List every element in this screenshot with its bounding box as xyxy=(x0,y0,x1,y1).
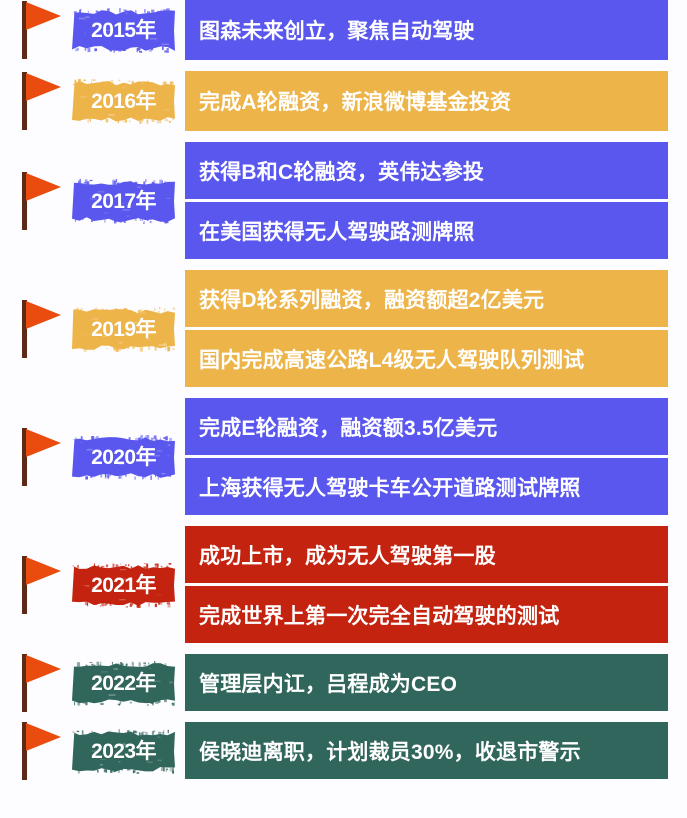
event-bar[interactable]: 成功上市，成为无人驾驶第一股 xyxy=(185,526,668,583)
flag-marker xyxy=(0,652,70,714)
year-label: 2017年 xyxy=(91,191,156,212)
flag-icon xyxy=(17,298,65,360)
event-text: 完成世界上第一次完全自动驾驶的测试 xyxy=(199,600,559,630)
year-badge-2023[interactable]: 2023年 xyxy=(72,728,175,775)
event-bar-list: 图森未来创立，聚焦自动驾驶 xyxy=(185,0,687,60)
event-text: 图森未来创立，聚焦自动驾驶 xyxy=(199,15,475,45)
timeline-group: 2017年获得B和C轮融资，英伟达参投在美国获得无人驾驶路测牌照 xyxy=(0,142,687,259)
timeline-group: 2021年成功上市，成为无人驾驶第一股完成世界上第一次完全自动驾驶的测试 xyxy=(0,526,687,643)
timeline-group: 2022年管理层内讧，吕程成为CEO xyxy=(0,654,687,711)
timeline-rail: 2021年 xyxy=(0,526,185,643)
event-text: 获得B和C轮融资，英伟达参投 xyxy=(199,156,484,186)
flag-icon xyxy=(17,426,65,488)
flag-marker xyxy=(0,426,70,488)
timeline-rail: 2023年 xyxy=(0,722,185,779)
year-badge-2020[interactable]: 2020年 xyxy=(72,434,175,481)
timeline-group: 2016年完成A轮融资，新浪微博基金投资 xyxy=(0,71,687,131)
event-bar[interactable]: 侯晓迪离职，计划裁员30%，收退市警示 xyxy=(185,722,668,779)
event-bar-list: 获得D轮系列融资，融资额超2亿美元国内完成高速公路L4级无人驾驶队列测试 xyxy=(185,270,687,387)
event-text: 获得D轮系列融资，融资额超2亿美元 xyxy=(199,284,544,314)
event-bar[interactable]: 图森未来创立，聚焦自动驾驶 xyxy=(185,0,668,60)
year-badge-2017[interactable]: 2017年 xyxy=(72,178,175,225)
flag-icon xyxy=(17,720,65,782)
timeline-rail: 2020年 xyxy=(0,398,185,515)
event-bar[interactable]: 完成E轮融资，融资额3.5亿美元 xyxy=(185,398,668,455)
event-bar-list: 成功上市，成为无人驾驶第一股完成世界上第一次完全自动驾驶的测试 xyxy=(185,526,687,643)
timeline-group: 2019年获得D轮系列融资，融资额超2亿美元国内完成高速公路L4级无人驾驶队列测… xyxy=(0,270,687,387)
flag-icon xyxy=(17,70,65,132)
event-text: 国内完成高速公路L4级无人驾驶队列测试 xyxy=(199,344,584,374)
event-text: 完成A轮融资，新浪微博基金投资 xyxy=(199,86,511,116)
timeline-rail: 2019年 xyxy=(0,270,185,387)
event-bar[interactable]: 国内完成高速公路L4级无人驾驶队列测试 xyxy=(185,330,668,387)
flag-icon xyxy=(17,0,65,61)
flag-marker xyxy=(0,70,70,132)
year-badge-2015[interactable]: 2015年 xyxy=(72,7,175,54)
event-bar[interactable]: 上海获得无人驾驶卡车公开道路测试牌照 xyxy=(185,458,668,515)
flag-icon xyxy=(17,652,65,714)
flag-marker xyxy=(0,0,70,61)
event-text: 完成E轮融资，融资额3.5亿美元 xyxy=(199,412,497,442)
year-label: 2022年 xyxy=(91,673,156,694)
event-bar-list: 完成A轮融资，新浪微博基金投资 xyxy=(185,71,687,131)
event-text: 侯晓迪离职，计划裁员30%，收退市警示 xyxy=(199,736,581,766)
flag-marker xyxy=(0,170,70,232)
timeline-rail: 2016年 xyxy=(0,71,185,131)
year-badge-2016[interactable]: 2016年 xyxy=(72,78,175,125)
flag-marker xyxy=(0,298,70,360)
event-text: 上海获得无人驾驶卡车公开道路测试牌照 xyxy=(199,472,581,502)
timeline-rail: 2022年 xyxy=(0,654,185,711)
event-bar-list: 侯晓迪离职，计划裁员30%，收退市警示 xyxy=(185,722,687,779)
timeline-rail: 2015年 xyxy=(0,0,185,60)
year-badge-2019[interactable]: 2019年 xyxy=(72,306,175,353)
event-bar[interactable]: 完成世界上第一次完全自动驾驶的测试 xyxy=(185,586,668,643)
timeline-group: 2020年完成E轮融资，融资额3.5亿美元上海获得无人驾驶卡车公开道路测试牌照 xyxy=(0,398,687,515)
timeline-rail: 2017年 xyxy=(0,142,185,259)
year-label: 2016年 xyxy=(91,91,156,112)
event-bar[interactable]: 管理层内讧，吕程成为CEO xyxy=(185,654,668,711)
event-bar[interactable]: 在美国获得无人驾驶路测牌照 xyxy=(185,202,668,259)
year-label: 2015年 xyxy=(91,20,156,41)
event-text: 成功上市，成为无人驾驶第一股 xyxy=(199,540,496,570)
event-text: 在美国获得无人驾驶路测牌照 xyxy=(199,216,475,246)
event-bar-list: 获得B和C轮融资，英伟达参投在美国获得无人驾驶路测牌照 xyxy=(185,142,687,259)
event-bar-list: 完成E轮融资，融资额3.5亿美元上海获得无人驾驶卡车公开道路测试牌照 xyxy=(185,398,687,515)
year-badge-2021[interactable]: 2021年 xyxy=(72,562,175,609)
event-bar[interactable]: 获得D轮系列融资，融资额超2亿美元 xyxy=(185,270,668,327)
flag-icon xyxy=(17,554,65,616)
flag-marker xyxy=(0,554,70,616)
event-bar[interactable]: 获得B和C轮融资，英伟达参投 xyxy=(185,142,668,199)
flag-icon xyxy=(17,170,65,232)
event-bar[interactable]: 完成A轮融资，新浪微博基金投资 xyxy=(185,71,668,131)
event-text: 管理层内讧，吕程成为CEO xyxy=(199,668,457,698)
year-label: 2021年 xyxy=(91,575,156,596)
event-bar-list: 管理层内讧，吕程成为CEO xyxy=(185,654,687,711)
year-label: 2019年 xyxy=(91,319,156,340)
timeline-group: 2023年侯晓迪离职，计划裁员30%，收退市警示 xyxy=(0,722,687,779)
flag-marker xyxy=(0,720,70,782)
year-label: 2023年 xyxy=(91,741,156,762)
timeline-group: 2015年图森未来创立，聚焦自动驾驶 xyxy=(0,0,687,60)
year-label: 2020年 xyxy=(91,447,156,468)
timeline-infographic: 2015年图森未来创立，聚焦自动驾驶2016年完成A轮融资，新浪微博基金投资20… xyxy=(0,0,687,818)
year-badge-2022[interactable]: 2022年 xyxy=(72,660,175,707)
